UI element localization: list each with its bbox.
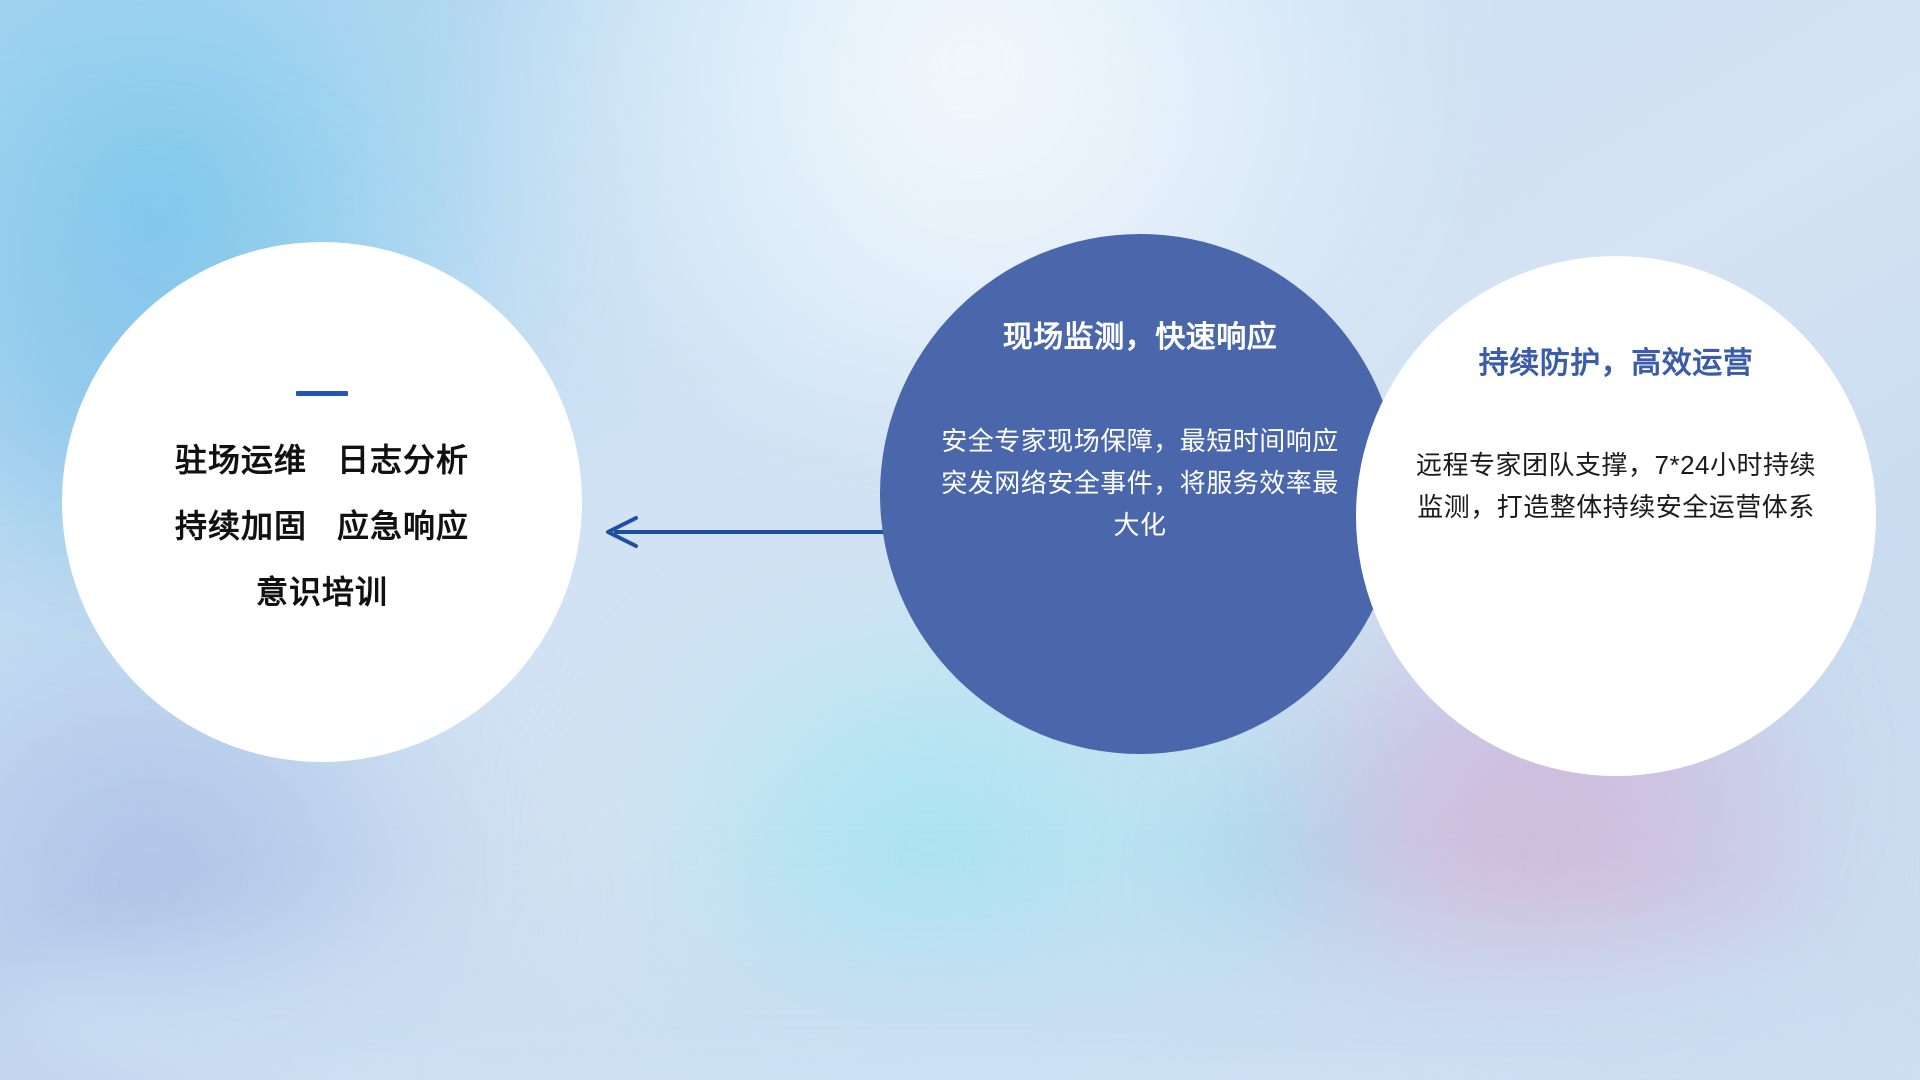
onsite-monitoring-title: 现场监测，快速响应: [1003, 320, 1278, 356]
capability-label-yingjixiangying: 应急响应: [337, 508, 469, 544]
capability-label-zhuchangyunwei: 驻场运维: [175, 442, 307, 478]
capability-label-chixujiagu: 持续加固: [175, 508, 307, 544]
continuous-protection-title: 持续防护，高效运营: [1479, 346, 1754, 382]
onsite-monitoring-circle[interactable]: 现场监测，快速响应 安全专家现场保障，最短时间响应突发网络安全事件，将服务效率最…: [880, 234, 1400, 754]
capability-label-rizhifenxi: 日志分析: [337, 442, 469, 478]
left-arrow-connector: [600, 512, 900, 552]
continuous-protection-body: 远程专家团队支撑，7*24小时持续监测，打造整体持续安全运营体系: [1406, 444, 1826, 528]
divider-dash-icon: [296, 391, 348, 396]
capability-label-yishipeixun: 意识培训: [256, 574, 388, 610]
capability-list: 驻场运维日志分析 持续加固应急响应 意识培训: [175, 444, 469, 608]
capability-row-1: 驻场运维日志分析: [175, 444, 469, 476]
continuous-protection-circle[interactable]: 持续防护，高效运营 远程专家团队支撑，7*24小时持续监测，打造整体持续安全运营…: [1356, 256, 1876, 776]
diagram-stage: 驻场运维日志分析 持续加固应急响应 意识培训 现场监测，快速响应 安全专家现场保…: [0, 0, 1920, 1080]
capability-row-2: 持续加固应急响应: [175, 510, 469, 542]
service-capability-circle[interactable]: 驻场运维日志分析 持续加固应急响应 意识培训: [62, 242, 582, 762]
onsite-monitoring-body: 安全专家现场保障，最短时间响应突发网络安全事件，将服务效率最大化: [940, 420, 1340, 546]
capability-row-3: 意识培训: [256, 576, 388, 608]
